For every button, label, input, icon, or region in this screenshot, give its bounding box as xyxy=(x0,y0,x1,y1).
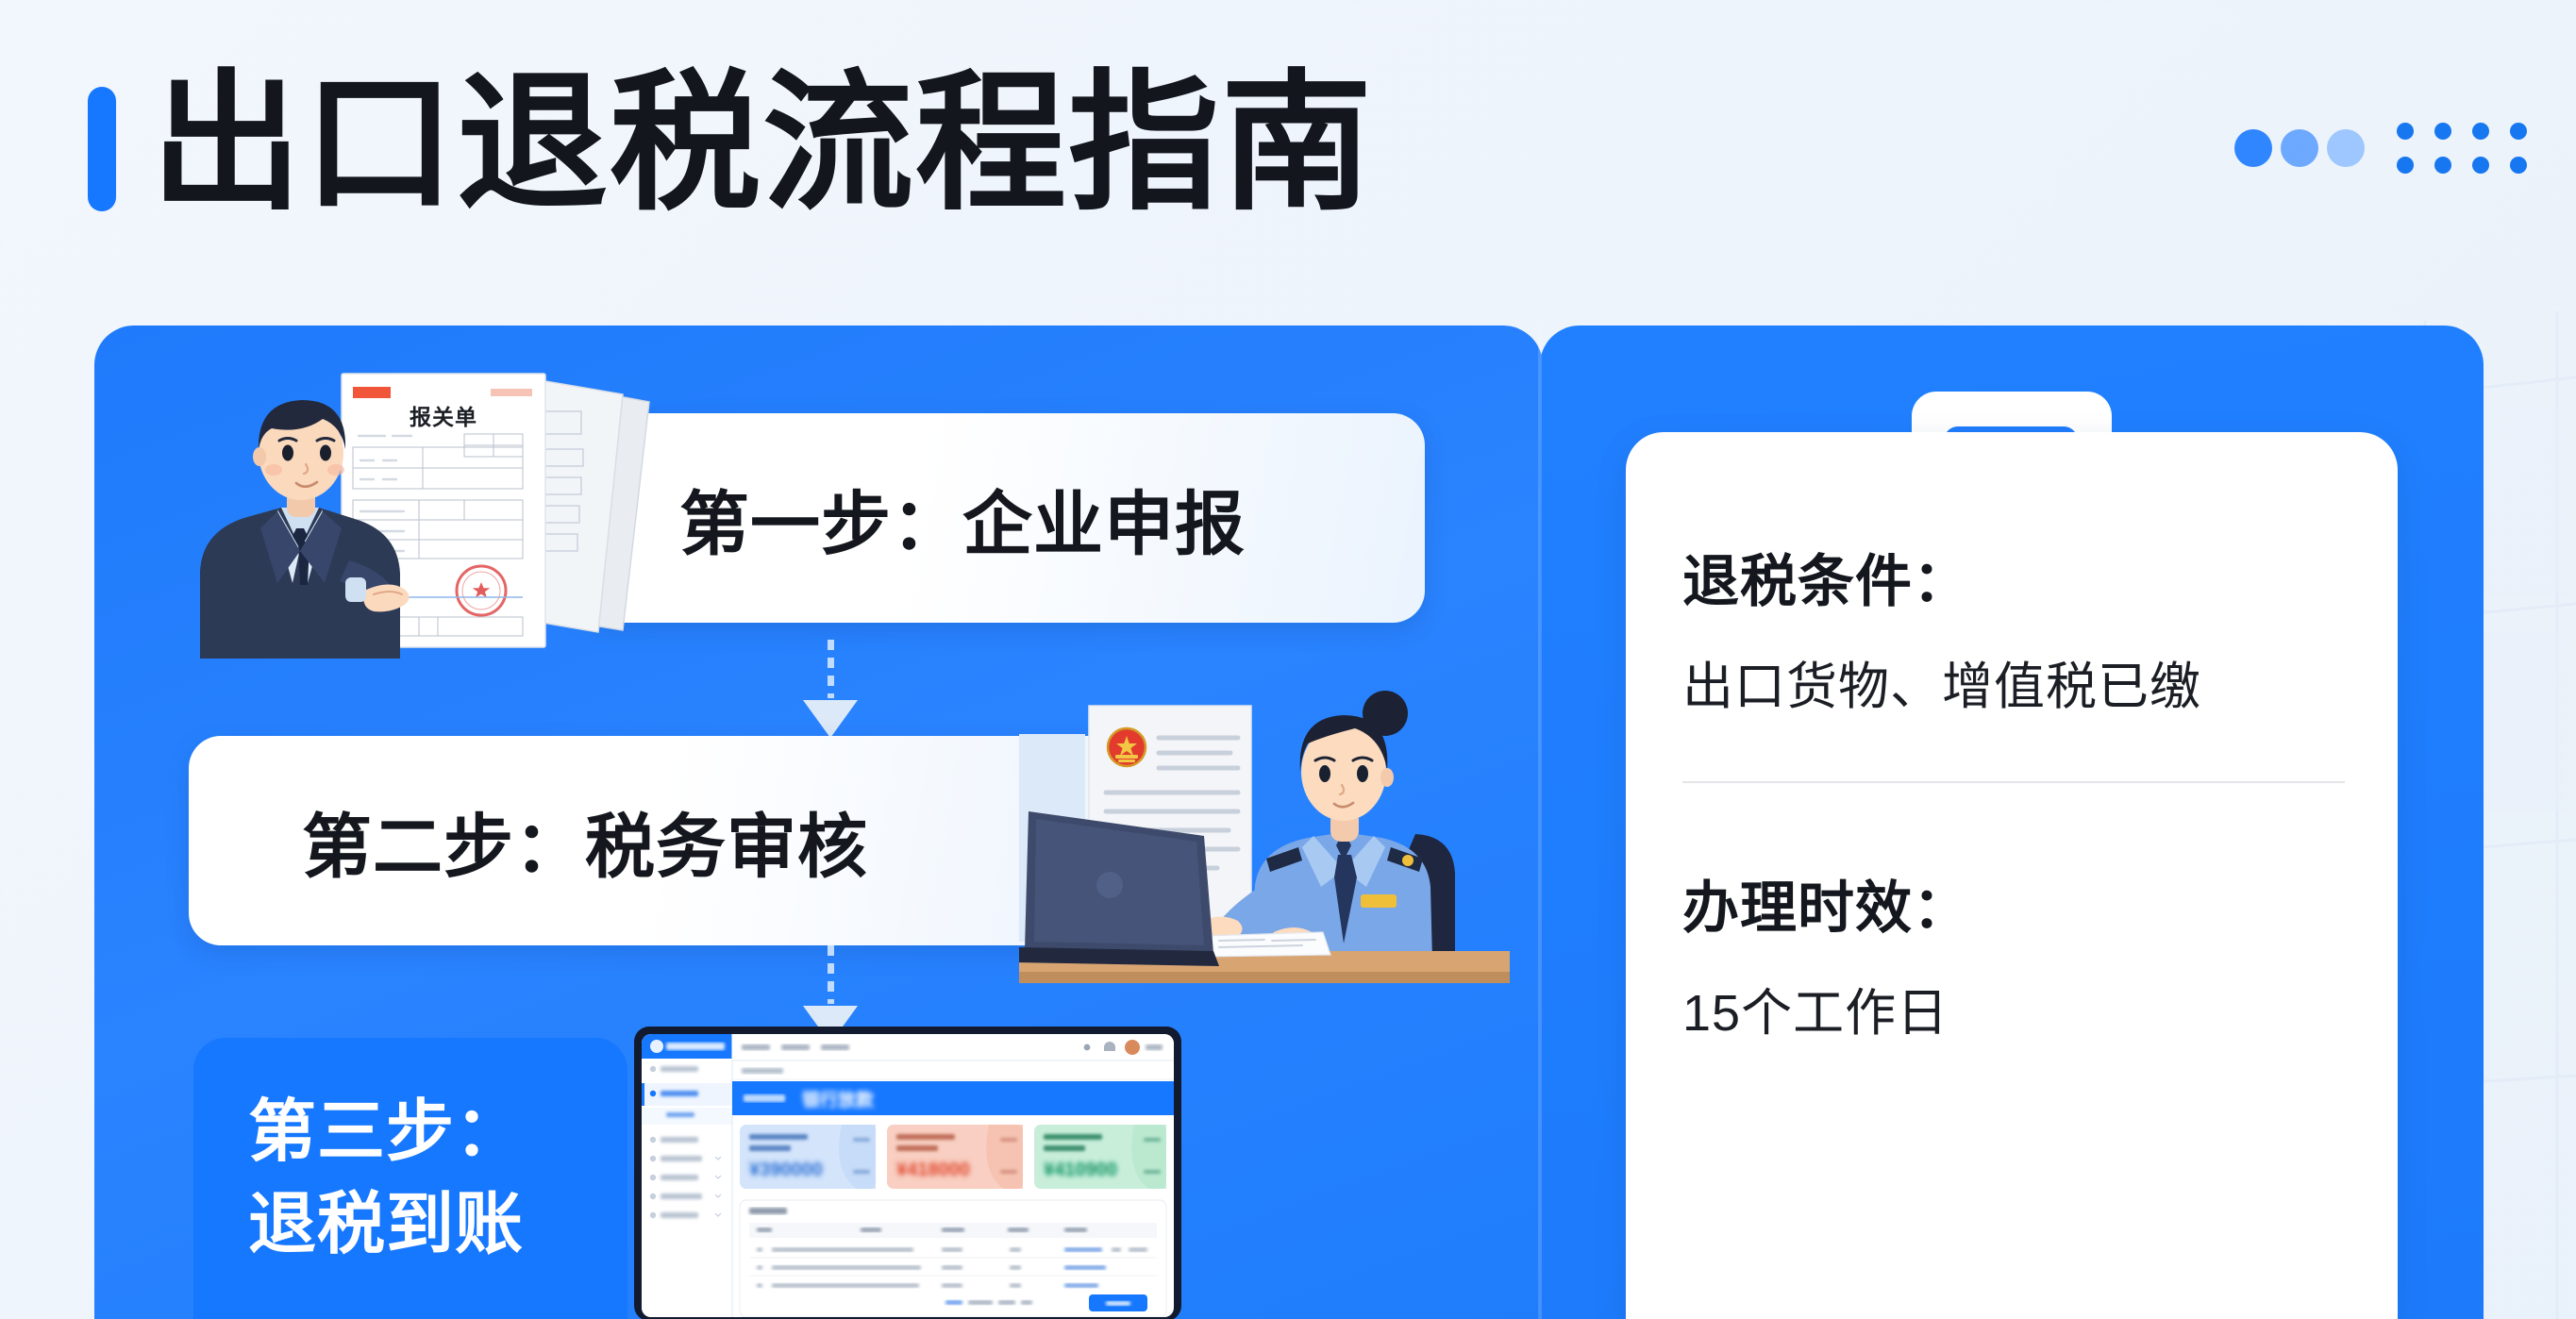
refund-dashboard-screenshot: 银行放款 ¥390000 xyxy=(634,1027,1181,1319)
step-card-1[interactable]: 第一步：企业申报 xyxy=(576,413,1425,623)
title-accent-bar xyxy=(88,87,116,211)
step-2-label: 第二步：税务审核 xyxy=(302,791,868,892)
svg-text:报关单: 报关单 xyxy=(410,405,477,429)
page-header: 出口退税流程指南 xyxy=(0,0,2576,311)
refund-conditions-heading: 退税条件： xyxy=(1682,536,2345,618)
deco-dot xyxy=(2434,157,2451,174)
refund-conditions-text: 出口货物、增值税已缴 xyxy=(1682,644,2345,719)
businessman-with-customs-form-illustration: 报关单 xyxy=(179,347,689,659)
info-card: 退税条件： 出口货物、增值税已缴 办理时效： 15个工作日 xyxy=(1626,432,2398,1319)
deco-dot xyxy=(2397,157,2414,174)
page-title: 出口退税流程指南 xyxy=(151,40,1374,247)
step-3-label-line1: 第三步： xyxy=(248,1086,524,1178)
step-1-label: 第一步：企业申报 xyxy=(679,468,1246,569)
info-block-duration: 办理时效： 15个工作日 xyxy=(1682,862,2345,1045)
svg-text:¥410900: ¥410900 xyxy=(1044,1160,1117,1180)
header-decoration xyxy=(2234,123,2527,174)
step-card-3[interactable]: 第三步： 退税到账 xyxy=(193,1038,627,1319)
step-3-label-line2: 退税到账 xyxy=(248,1178,524,1271)
processing-time-heading: 办理时效： xyxy=(1682,862,2345,944)
deco-dot-grid xyxy=(2397,123,2527,174)
info-card-divider xyxy=(1682,781,2345,783)
deco-circle-1 xyxy=(2234,129,2272,167)
tax-officer-at-laptop-illustration xyxy=(1019,660,1510,1000)
deco-circle-2 xyxy=(2281,129,2318,167)
deco-dot xyxy=(2434,123,2451,140)
deco-dot xyxy=(2472,123,2489,140)
deco-dot xyxy=(2510,123,2527,140)
info-card-body: 退税条件： 出口货物、增值税已缴 办理时效： 15个工作日 xyxy=(1682,536,2345,1045)
deco-circle-group xyxy=(2234,129,2365,167)
panel-divider xyxy=(1538,326,1542,1319)
connector-dashed-line xyxy=(828,640,834,698)
processing-time-text: 15个工作日 xyxy=(1682,971,2345,1045)
deco-dot xyxy=(2472,157,2489,174)
deco-dot xyxy=(2397,123,2414,140)
info-block-conditions: 退税条件： 出口货物、增值税已缴 xyxy=(1682,536,2345,719)
connector-dashed-line xyxy=(828,945,834,1004)
svg-text:¥390000: ¥390000 xyxy=(749,1160,823,1180)
arrow-down-icon xyxy=(803,700,858,738)
svg-text:银行放款: 银行放款 xyxy=(802,1089,875,1110)
svg-text:¥418000: ¥418000 xyxy=(896,1160,970,1180)
connector-step1-step2 xyxy=(802,640,859,738)
deco-circle-3 xyxy=(2327,129,2365,167)
deco-dot xyxy=(2510,157,2527,174)
